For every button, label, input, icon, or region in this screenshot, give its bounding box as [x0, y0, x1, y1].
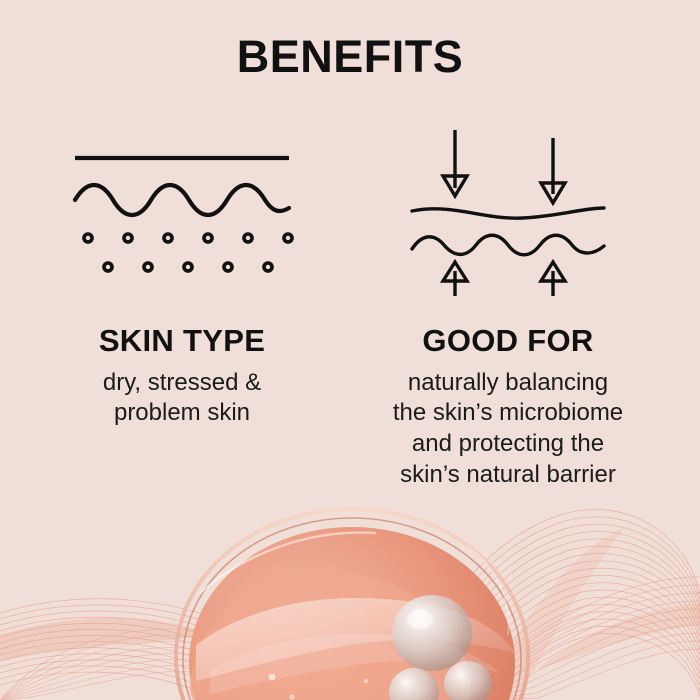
skin-barrier-arrows-icon — [408, 128, 608, 298]
skin-layers-icon — [67, 148, 297, 278]
benefit-heading-good-for: GOOD FOR — [348, 323, 668, 359]
skin-layers-icon-wrap — [22, 120, 342, 305]
benefit-column-skin-type: SKIN TYPE dry, stressed & problem skin — [22, 120, 342, 429]
benefit-body-line: dry, stressed & — [22, 368, 342, 399]
petri-dish-with-serum-and-wave-mesh — [0, 485, 700, 700]
arrow-up-left — [443, 262, 467, 296]
benefit-heading-skin-type: SKIN TYPE — [22, 323, 342, 359]
arrow-down-right — [541, 138, 565, 203]
benefit-body-line: the skin’s microbiome — [348, 398, 668, 429]
benefit-body-line: naturally balancing — [348, 368, 668, 399]
benefits-infographic: BENEFITS — [0, 0, 700, 700]
skin-barrier-arrows-icon-wrap — [348, 120, 668, 305]
page-title: BENEFITS — [0, 32, 700, 82]
arrow-up-right — [541, 262, 565, 296]
benefit-body-line: and protecting the — [348, 429, 668, 460]
benefit-body-good-for: naturally balancing the skin’s microbiom… — [348, 368, 668, 491]
benefit-body-line: problem skin — [22, 398, 342, 429]
arrow-down-left — [443, 130, 467, 196]
benefit-column-good-for: GOOD FOR naturally balancing the skin’s … — [348, 120, 668, 491]
benefit-body-skin-type: dry, stressed & problem skin — [22, 368, 342, 429]
bottom-artwork — [0, 485, 700, 700]
petri-dish — [176, 509, 528, 700]
